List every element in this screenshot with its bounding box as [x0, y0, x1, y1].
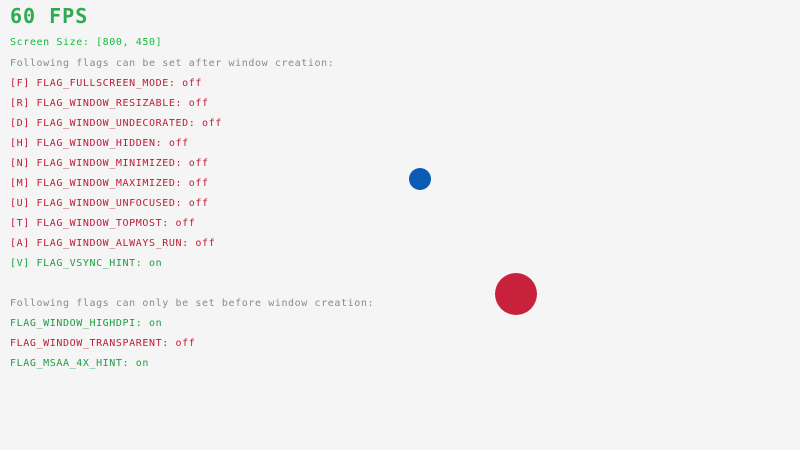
- flag-state: off: [182, 178, 208, 189]
- flag-state: off: [169, 338, 195, 349]
- flag-label: [A] FLAG_WINDOW_ALWAYS_RUN:: [10, 238, 189, 249]
- flag-state: on: [142, 318, 162, 329]
- flag-state: on: [142, 258, 162, 269]
- screen-size-label: Screen Size: [800, 450]: [10, 38, 162, 48]
- flag-row-flag-fullscreen-mode[interactable]: [F] FLAG_FULLSCREEN_MODE: off: [10, 79, 202, 89]
- flag-row-flag-vsync-hint[interactable]: [V] FLAG_VSYNC_HINT: on: [10, 259, 162, 269]
- flag-state: off: [182, 198, 208, 209]
- flag-label: FLAG_WINDOW_HIGHDPI:: [10, 318, 142, 329]
- flag-label: [R] FLAG_WINDOW_RESIZABLE:: [10, 98, 182, 109]
- section-heading-before-creation: Following flags can only be set before w…: [10, 299, 374, 309]
- flag-label: [H] FLAG_WINDOW_HIDDEN:: [10, 138, 162, 149]
- flag-row-flag-window-highdpi[interactable]: FLAG_WINDOW_HIGHDPI: on: [10, 319, 162, 329]
- flag-row-flag-window-transparent[interactable]: FLAG_WINDOW_TRANSPARENT: off: [10, 339, 195, 349]
- raylib-window-canvas: 60 FPS Screen Size: [800, 450] Following…: [0, 0, 800, 450]
- flag-label: [U] FLAG_WINDOW_UNFOCUSED:: [10, 198, 182, 209]
- fps-counter: 60 FPS: [10, 6, 88, 26]
- flag-label: [N] FLAG_WINDOW_MINIMIZED:: [10, 158, 182, 169]
- flag-label: FLAG_WINDOW_TRANSPARENT:: [10, 338, 169, 349]
- flag-state: off: [189, 238, 215, 249]
- flag-row-flag-msaa-4x-hint[interactable]: FLAG_MSAA_4X_HINT: on: [10, 359, 149, 369]
- flag-label: [M] FLAG_WINDOW_MAXIMIZED:: [10, 178, 182, 189]
- flag-row-flag-window-maximized[interactable]: [M] FLAG_WINDOW_MAXIMIZED: off: [10, 179, 209, 189]
- blue-ball: [409, 168, 431, 190]
- flag-label: [D] FLAG_WINDOW_UNDECORATED:: [10, 118, 195, 129]
- flag-state: on: [129, 358, 149, 369]
- flag-state: off: [182, 158, 208, 169]
- flag-row-flag-window-always-run[interactable]: [A] FLAG_WINDOW_ALWAYS_RUN: off: [10, 239, 215, 249]
- flag-label: [T] FLAG_WINDOW_TOPMOST:: [10, 218, 169, 229]
- flag-row-flag-window-topmost[interactable]: [T] FLAG_WINDOW_TOPMOST: off: [10, 219, 195, 229]
- flag-label: FLAG_MSAA_4X_HINT:: [10, 358, 129, 369]
- flag-state: off: [195, 118, 221, 129]
- flag-label: [V] FLAG_VSYNC_HINT:: [10, 258, 142, 269]
- flag-state: off: [176, 78, 202, 89]
- flag-row-flag-window-undecorated[interactable]: [D] FLAG_WINDOW_UNDECORATED: off: [10, 119, 222, 129]
- flag-state: off: [162, 138, 188, 149]
- flag-label: [F] FLAG_FULLSCREEN_MODE:: [10, 78, 176, 89]
- flag-row-flag-window-unfocused[interactable]: [U] FLAG_WINDOW_UNFOCUSED: off: [10, 199, 209, 209]
- flag-row-flag-window-minimized[interactable]: [N] FLAG_WINDOW_MINIMIZED: off: [10, 159, 209, 169]
- red-ball: [495, 273, 537, 315]
- flag-row-flag-window-hidden[interactable]: [H] FLAG_WINDOW_HIDDEN: off: [10, 139, 189, 149]
- flag-row-flag-window-resizable[interactable]: [R] FLAG_WINDOW_RESIZABLE: off: [10, 99, 209, 109]
- section-heading-after-creation: Following flags can be set after window …: [10, 59, 334, 69]
- flag-state: off: [169, 218, 195, 229]
- flag-state: off: [182, 98, 208, 109]
